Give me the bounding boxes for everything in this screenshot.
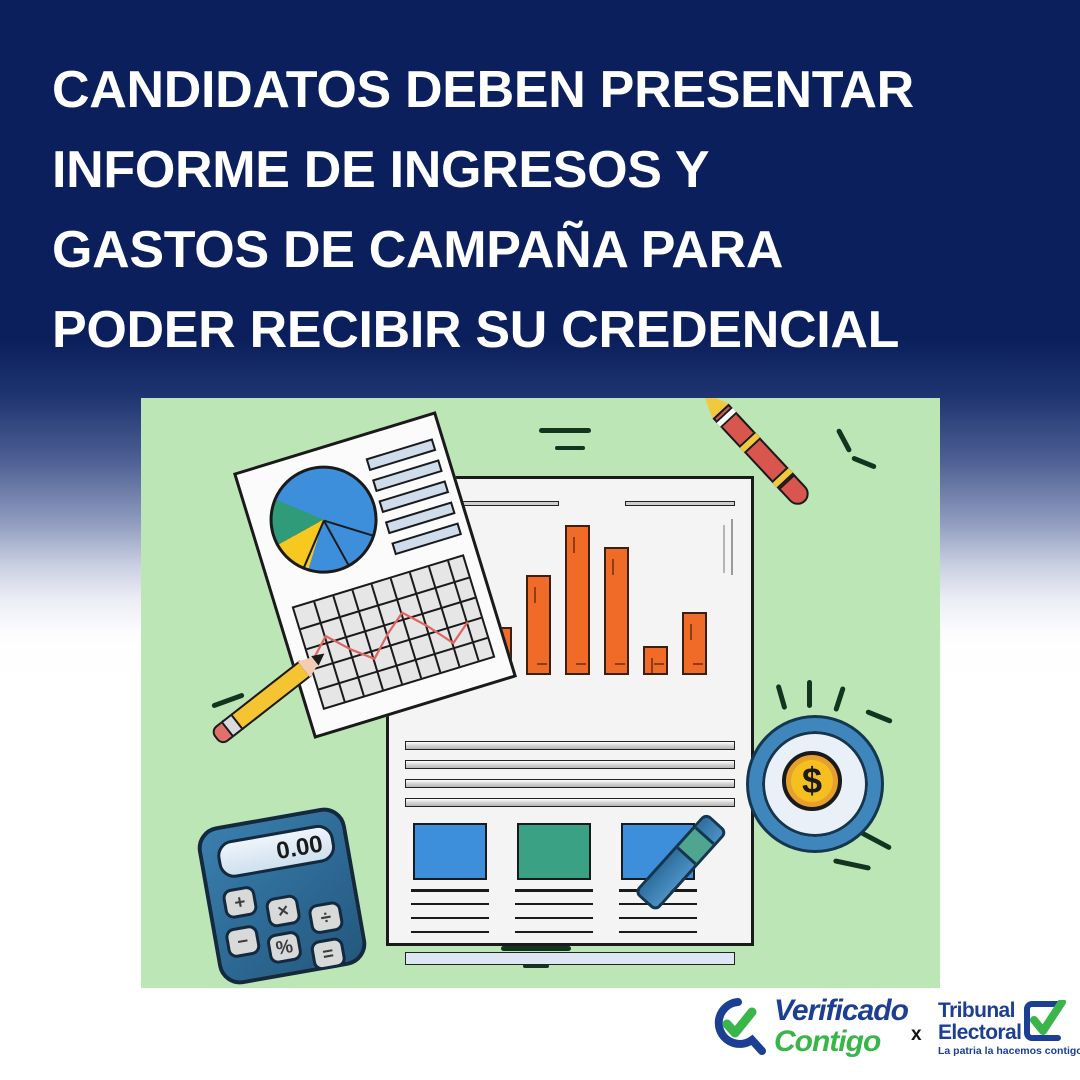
footer-logos: Verificado Contigo x Tribunal Electoral …	[0, 988, 1080, 1080]
illustration-panel: 0.00 + × − % ÷ = $	[141, 398, 940, 988]
verificado-contigo-logo: Verificado Contigo	[712, 996, 908, 1057]
calculator-key-plus[interactable]: +	[221, 885, 259, 920]
poster-canvas: CANDIDATOS DEBEN PRESENTAR INFORME DE IN…	[0, 0, 1080, 1080]
line-series	[294, 557, 493, 708]
headline-line-3: GASTOS DE CAMPAÑA PARA	[52, 210, 1037, 290]
doodle-mark	[539, 428, 591, 433]
bar-4	[526, 575, 551, 675]
image-block-2	[517, 823, 591, 880]
verificado-wordmark: Verificado Contigo	[774, 996, 908, 1057]
doodle-mark	[807, 680, 812, 708]
ballot-check-icon	[1024, 1000, 1070, 1046]
doc-textline	[515, 889, 593, 892]
page-title: CANDIDATOS DEBEN PRESENTAR INFORME DE IN…	[52, 50, 1037, 370]
doc-rule	[405, 798, 735, 807]
calculator-key-divide[interactable]: ÷	[307, 900, 345, 935]
tribunal-wordmark: Tribunal Electoral La patria la hacemos …	[938, 1000, 1021, 1043]
doodle-mark	[555, 446, 585, 450]
calculator-key-minus[interactable]: −	[224, 924, 262, 959]
doodle-mark	[836, 428, 853, 453]
electoral-word: Electoral	[938, 1022, 1021, 1043]
calculator-key-percent[interactable]: %	[266, 930, 304, 965]
doodle-mark	[833, 686, 846, 712]
doc-tick	[731, 519, 733, 575]
dollar-coin-icon: $	[782, 751, 842, 811]
headline-line-1: CANDIDATOS DEBEN PRESENTAR	[52, 50, 1037, 130]
doodle-mark	[501, 946, 571, 951]
image-block-1	[413, 823, 487, 880]
bar-7	[643, 646, 668, 675]
doodle-mark	[776, 684, 788, 710]
headline-line-2: INFORME DE INGRESOS Y	[52, 130, 1037, 210]
pie-chart	[256, 452, 391, 587]
magnifier-check-icon	[712, 998, 770, 1056]
doc-textline	[515, 903, 593, 905]
logo-separator: x	[911, 1024, 922, 1046]
tribunal-word: Tribunal	[938, 1000, 1021, 1021]
doc-footer-bar	[405, 952, 735, 965]
calculator[interactable]: 0.00 + × − % ÷ =	[194, 804, 370, 988]
doc-textline	[411, 931, 489, 933]
doodle-mark	[851, 455, 877, 469]
verificado-word: Verificado	[774, 996, 908, 1026]
doc-rule	[405, 760, 735, 769]
doc-tick	[723, 525, 725, 573]
magnifier-icon: $	[749, 718, 881, 850]
tribunal-electoral-logo: Tribunal Electoral La patria la hacemos …	[938, 1000, 1070, 1046]
doc-textline	[411, 917, 489, 919]
doc-textline	[515, 917, 593, 919]
bar-5	[565, 525, 590, 675]
doc-textline	[619, 917, 697, 919]
doc-textline	[619, 931, 697, 933]
doc-textline	[515, 931, 593, 933]
calculator-display: 0.00	[215, 822, 338, 880]
doc-textline	[411, 889, 489, 892]
headline-line-4: PODER RECIBIR SU CREDENCIAL	[52, 290, 1037, 370]
line-chart	[292, 554, 496, 710]
doc-textline	[411, 903, 489, 905]
bar-8	[682, 612, 707, 675]
doc-rule	[405, 779, 735, 788]
calculator-key-equals[interactable]: =	[309, 936, 347, 971]
tribunal-tagline: La patria la hacemos contigo	[938, 1046, 1080, 1057]
doodle-mark	[833, 858, 871, 871]
contigo-word: Contigo	[774, 1027, 908, 1057]
doc-rule	[405, 741, 735, 750]
calculator-key-times[interactable]: ×	[264, 893, 302, 928]
bar-6	[604, 547, 629, 675]
